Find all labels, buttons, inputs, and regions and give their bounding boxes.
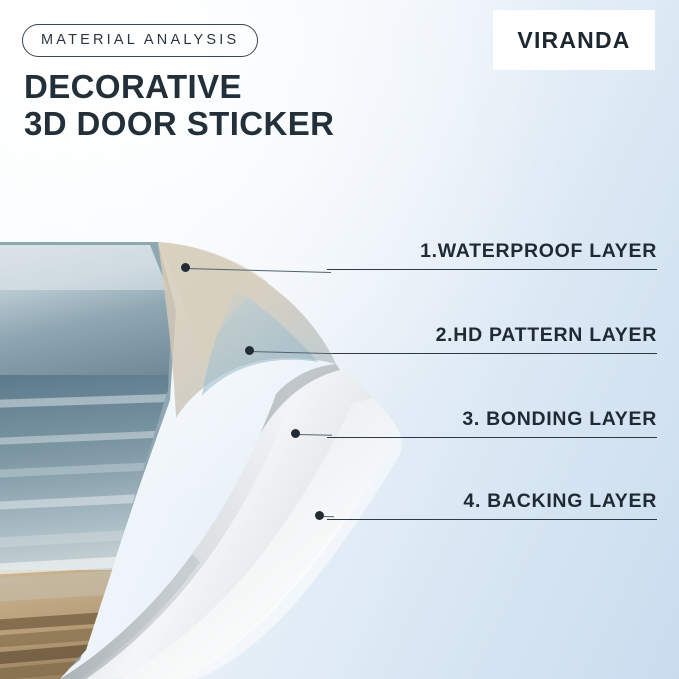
leader-dot-3 (291, 429, 300, 438)
eyebrow-badge: MATERIAL ANALYSIS (22, 24, 258, 57)
callout-label-4: 4. BACKING LAYER (463, 490, 657, 513)
callout-rule-4 (327, 519, 657, 520)
callout-rule-2 (327, 353, 657, 354)
callout-label-2: 2.HD PATTERN LAYER (436, 324, 657, 347)
callout-bonding-layer: 3. BONDING LAYER (327, 396, 657, 438)
leader-dot-4 (315, 511, 324, 520)
title-line-1: DECORATIVE (24, 69, 334, 106)
brand-logo-box: VIRANDA (493, 10, 655, 70)
leader-dot-2 (245, 346, 254, 355)
callout-waterproof-layer: 1.WATERPROOF LAYER (327, 228, 657, 270)
brand-name: VIRANDA (517, 27, 630, 54)
callout-label-1: 1.WATERPROOF LAYER (420, 240, 657, 263)
callout-hd-pattern-layer: 2.HD PATTERN LAYER (327, 312, 657, 354)
leader-dot-1 (181, 263, 190, 272)
callout-label-3: 3. BONDING LAYER (462, 408, 657, 431)
title-line-2: 3D DOOR STICKER (24, 106, 334, 143)
callout-rule-3 (327, 437, 657, 438)
callout-backing-layer: 4. BACKING LAYER (327, 478, 657, 520)
material-analysis-infographic: MATERIAL ANALYSIS DECORATIVE 3D DOOR STI… (0, 0, 679, 679)
page-title: DECORATIVE 3D DOOR STICKER (24, 69, 334, 143)
callout-rule-1 (327, 269, 657, 270)
